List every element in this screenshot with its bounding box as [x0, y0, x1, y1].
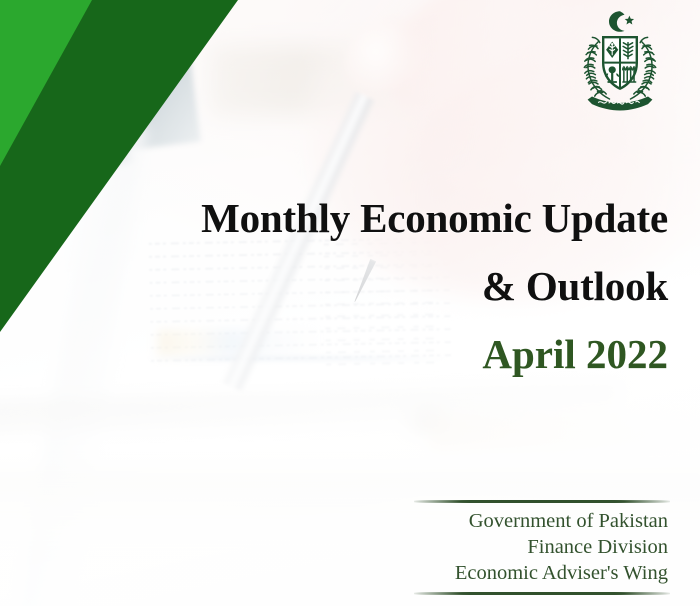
page-title-line-1: Monthly Economic Update	[120, 198, 668, 239]
title-block: Monthly Economic Update & Outlook April …	[120, 198, 668, 375]
issuer-block: Government of Pakistan Finance Division …	[400, 500, 670, 595]
state-emblem-of-pakistan	[572, 8, 668, 114]
page-title-line-2: & Outlook	[120, 266, 668, 307]
issuer-wing: Economic Adviser's Wing	[400, 560, 668, 586]
issuer-government: Government of Pakistan	[400, 508, 668, 534]
report-cover-page: Monthly Economic Update & Outlook April …	[0, 0, 700, 606]
divider-bottom	[414, 592, 670, 595]
issue-date: April 2022	[120, 334, 668, 375]
issuer-lines: Government of Pakistan Finance Division …	[400, 503, 670, 586]
issuer-division: Finance Division	[400, 534, 668, 560]
